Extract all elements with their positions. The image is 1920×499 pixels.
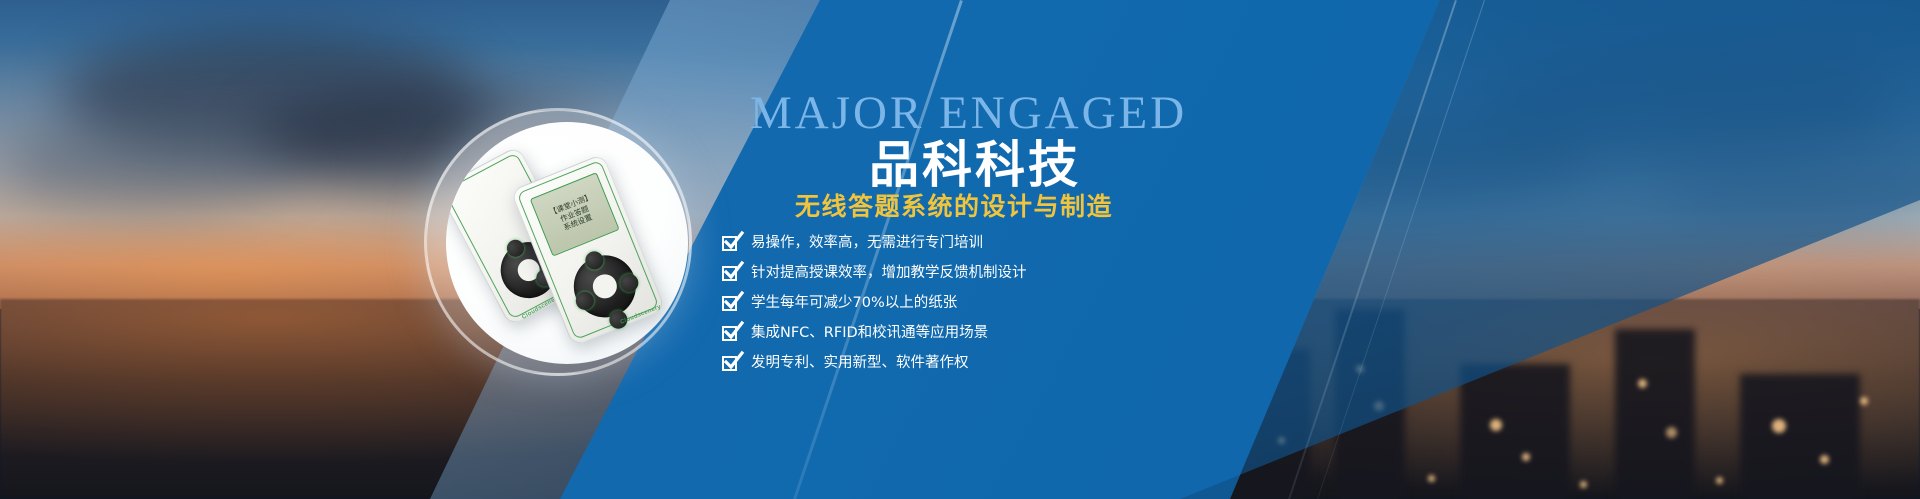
banner-subtitle: 无线答题系统的设计与制造 — [795, 192, 1113, 222]
feature-item: 针对提高授课效率，增加教学反馈机制设计 — [722, 258, 1027, 288]
feature-item: 集成NFC、RFID和校讯通等应用场景 — [722, 318, 1027, 348]
promo-banner: Cloudscenery 【课堂小测】 作业答题 系统设置 Cloudscene… — [0, 0, 1920, 499]
feature-label: 发明专利、实用新型、软件著作权 — [751, 356, 969, 371]
banner-content: MAJOR ENGAGED 品科科技 无线答题系统的设计与制造 易操作，效率高，… — [0, 0, 1920, 499]
banner-brand-title: 品科科技 — [869, 138, 1081, 192]
checkbox-checked-icon — [722, 236, 737, 251]
checkbox-checked-icon — [722, 356, 737, 371]
feature-label: 学生每年可减少70%以上的纸张 — [751, 296, 957, 311]
feature-label: 针对提高授课效率，增加教学反馈机制设计 — [751, 266, 1027, 281]
checkbox-checked-icon — [722, 266, 737, 281]
feature-item: 学生每年可减少70%以上的纸张 — [722, 288, 1027, 318]
checkbox-checked-icon — [722, 296, 737, 311]
feature-item: 易操作，效率高，无需进行专门培训 — [722, 228, 1027, 258]
checkbox-checked-icon — [722, 326, 737, 341]
feature-label: 集成NFC、RFID和校讯通等应用场景 — [751, 326, 988, 341]
banner-eyebrow: MAJOR ENGAGED — [750, 88, 1187, 138]
feature-item: 发明专利、实用新型、软件著作权 — [722, 348, 1027, 378]
feature-label: 易操作，效率高，无需进行专门培训 — [751, 236, 983, 251]
feature-list: 易操作，效率高，无需进行专门培训 针对提高授课效率，增加教学反馈机制设计 学生每… — [722, 228, 1027, 378]
